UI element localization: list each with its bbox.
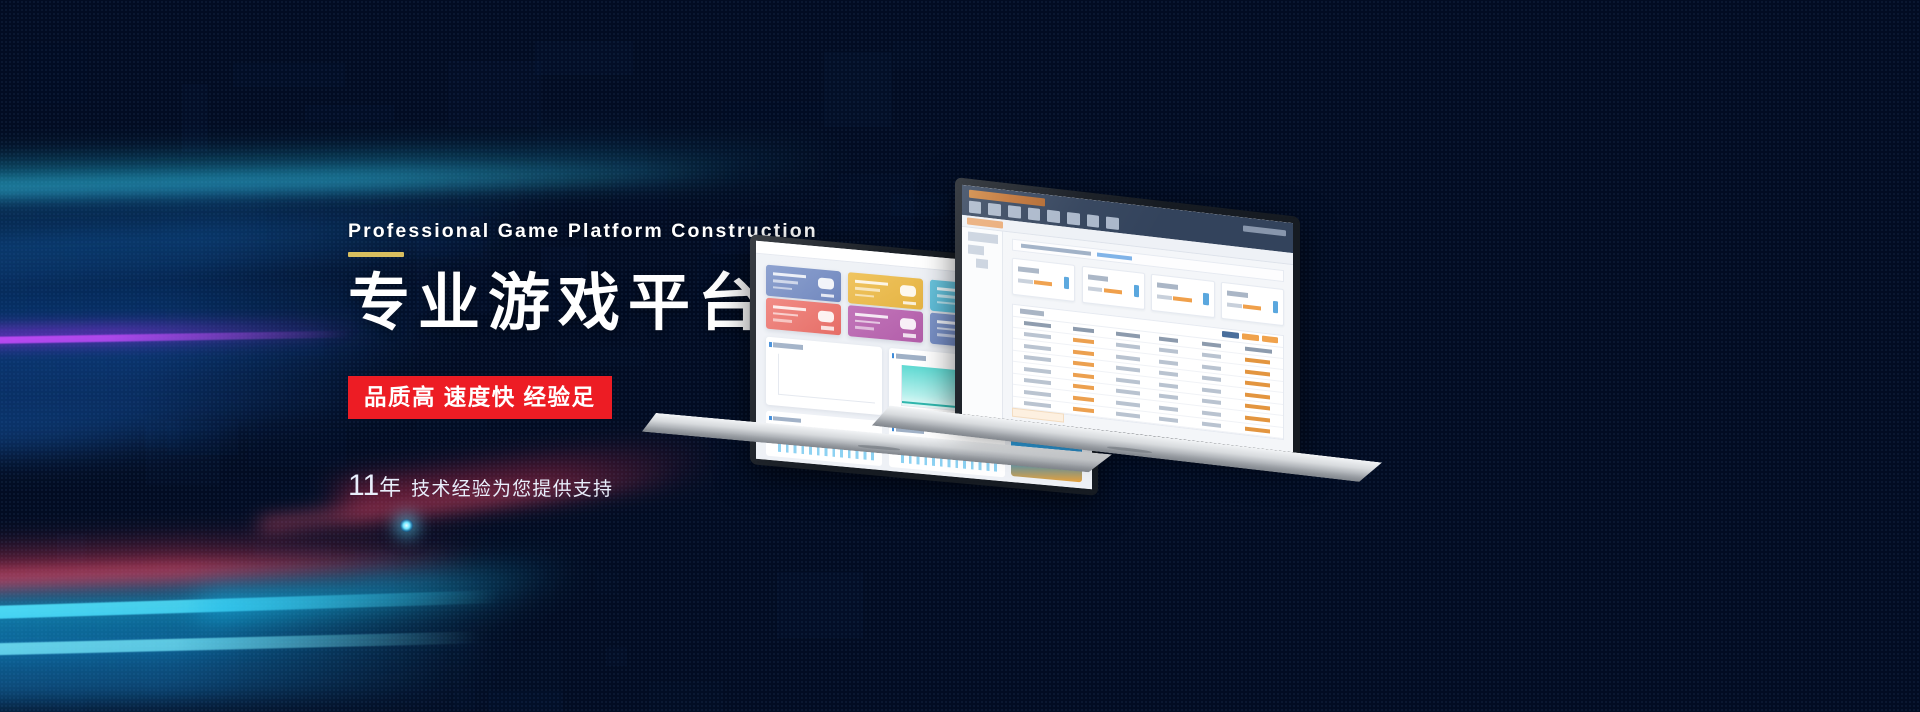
- hero-banner: Professional Game Platform Construction …: [0, 0, 1920, 712]
- table-cell: [1159, 382, 1178, 388]
- table-cell: [1245, 369, 1269, 376]
- glow-dot: [400, 519, 413, 532]
- kpi-card[interactable]: [766, 265, 841, 302]
- table-cell: [1073, 338, 1095, 345]
- nav-item[interactable]: [988, 203, 1001, 216]
- table-cell: [1245, 381, 1269, 388]
- table-cell: [1202, 399, 1221, 405]
- stat-card[interactable]: [1151, 273, 1214, 318]
- gold-rule: [348, 252, 404, 257]
- table-cell: [1202, 353, 1221, 359]
- table-cell: [1159, 371, 1178, 377]
- light-streak-0: [0, 147, 840, 194]
- sidebar-item[interactable]: [968, 231, 999, 244]
- table-cell: [1024, 401, 1051, 408]
- table-cell: [1073, 372, 1095, 379]
- nav-item[interactable]: [1047, 210, 1060, 223]
- light-streak-1: [0, 167, 740, 198]
- table-cell: [1245, 404, 1269, 411]
- table-cell: [1116, 343, 1140, 350]
- kpi-card[interactable]: [766, 298, 841, 335]
- sidebar: [962, 227, 1003, 418]
- table-cell: [1159, 417, 1178, 423]
- table-column-header: [1245, 346, 1272, 353]
- table-cell: [1024, 367, 1051, 374]
- table-cell: [1245, 427, 1269, 434]
- table-cell: [1116, 354, 1140, 361]
- table-column-header: [1073, 326, 1095, 333]
- light-streak-11: [0, 580, 540, 638]
- stat-card[interactable]: [1082, 265, 1145, 310]
- table-cell: [1159, 405, 1178, 411]
- table-cell: [1024, 378, 1051, 385]
- table-cell: [1245, 358, 1269, 365]
- light-streak-8: [0, 415, 250, 464]
- slogan-badge: 品质高 速度快 经验足: [348, 376, 612, 419]
- table-column-header: [1116, 331, 1140, 338]
- nav-item[interactable]: [1067, 212, 1080, 225]
- table-button-export[interactable]: [1262, 336, 1279, 344]
- table-cell: [1116, 400, 1140, 407]
- table-cell: [1159, 359, 1178, 365]
- nav-item[interactable]: [969, 201, 982, 214]
- table-column-header: [1024, 321, 1051, 328]
- kpi-card[interactable]: [848, 305, 923, 342]
- table-cell: [1073, 361, 1095, 368]
- table-cell: [1024, 390, 1051, 397]
- light-streak-9: [0, 533, 490, 600]
- table-column-header: [1159, 336, 1178, 342]
- table-cell: [1202, 387, 1221, 393]
- table-cell: [1159, 394, 1178, 400]
- light-streak-10: [0, 554, 470, 592]
- table-cell: [1024, 332, 1051, 339]
- main-content: [1003, 232, 1293, 452]
- tagline-text: 技术经验为您提供支持: [411, 479, 613, 500]
- table-title: [1020, 309, 1044, 316]
- laptop-front-screen: [962, 185, 1293, 452]
- front-dashboard: [962, 185, 1293, 452]
- table-cell: [1024, 344, 1051, 351]
- stat-card[interactable]: [1012, 257, 1075, 302]
- breadcrumb: [967, 218, 1003, 229]
- chart-card-blank[interactable]: [766, 337, 882, 415]
- slogan-badge-label: 品质高 速度快 经验足: [364, 380, 596, 412]
- light-streak-14: [0, 631, 480, 660]
- table-cell: [1202, 376, 1221, 382]
- table-button-search[interactable]: [1222, 331, 1239, 339]
- table-cell: [1202, 364, 1221, 370]
- light-streak-15: [0, 664, 480, 706]
- kpi-card[interactable]: [848, 272, 923, 309]
- nav-item[interactable]: [1008, 206, 1021, 219]
- laptop-group: [760, 185, 1920, 525]
- table-cell: [1116, 377, 1140, 384]
- table-cell: [1245, 392, 1269, 399]
- table-cell: [1073, 395, 1095, 402]
- table-cell: [1116, 366, 1140, 373]
- table-cell: [1116, 389, 1140, 396]
- years-unit: 年: [379, 475, 401, 500]
- years-value: 11年: [348, 469, 401, 502]
- table-cell: [1073, 384, 1095, 391]
- nav-item[interactable]: [1087, 215, 1100, 228]
- light-streak-13: [0, 618, 500, 676]
- table-cell: [1159, 348, 1178, 354]
- table-cell: [1116, 412, 1140, 419]
- table-cell: [1245, 415, 1269, 422]
- table-cell: [1073, 407, 1095, 414]
- light-streak-6: [0, 331, 350, 347]
- light-streak-12: [0, 590, 500, 625]
- table-cell: [1024, 355, 1051, 362]
- stat-card[interactable]: [1221, 281, 1284, 326]
- table-cell: [1202, 422, 1221, 428]
- laptop-front-bezel: [955, 177, 1300, 460]
- light-streak-18: [199, 560, 579, 618]
- nav-item[interactable]: [1106, 217, 1119, 230]
- table-cell: [1073, 349, 1095, 356]
- sidebar-item[interactable]: [976, 258, 988, 269]
- table-column-header: [1202, 341, 1221, 347]
- table-button-add[interactable]: [1242, 334, 1259, 342]
- light-streak-5: [0, 322, 370, 348]
- table-cell: [1202, 410, 1221, 416]
- nav-item[interactable]: [1028, 208, 1041, 221]
- sidebar-item[interactable]: [968, 244, 984, 255]
